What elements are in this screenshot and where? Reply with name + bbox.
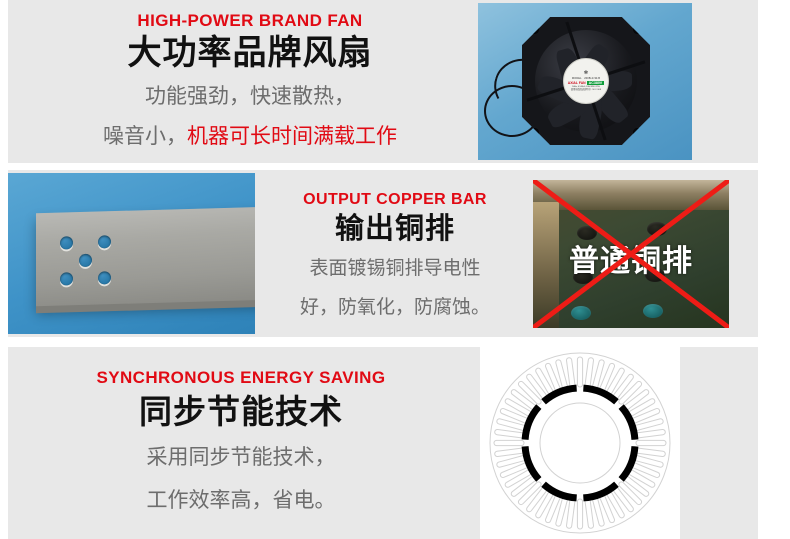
copper-title: 输出铜排 xyxy=(266,214,524,245)
fan-bore: ✻ MODEL 200B-2×W-B AXIAL FAN AC380V 50Hz… xyxy=(535,30,637,132)
stator-tooth xyxy=(494,440,524,445)
ordinary-bar-hole xyxy=(643,304,663,318)
stator-tooth xyxy=(494,429,524,438)
copper-bar-edge xyxy=(36,300,255,313)
axial-fan-photo: ✻ MODEL 200B-2×W-B AXIAL FAN AC380V 50Hz… xyxy=(478,3,692,160)
fan-label-voltage-badge: AC380V xyxy=(587,81,605,85)
copper-bar-hole xyxy=(60,272,73,285)
copper-bar-hole xyxy=(60,236,73,249)
fan-label-rating-row: AXIAL FAN AC380V xyxy=(568,81,604,85)
stator-tooth xyxy=(500,462,530,478)
ordinary-bar-hole xyxy=(571,306,591,320)
stator-ring-segment xyxy=(583,388,616,402)
copper-body-line-2: 好，防氧化，防腐蚀。 xyxy=(266,294,524,323)
fan-housing: ✻ MODEL 200B-2×W-B AXIAL FAN AC380V 50Hz… xyxy=(522,17,650,145)
fan-body-line-1: 功能强劲，快速散热， xyxy=(26,81,474,113)
stator-tooth xyxy=(496,418,526,431)
energy-title: 同步节能技术 xyxy=(16,394,466,430)
stator-tooth xyxy=(599,494,615,524)
stator-teeth-group xyxy=(494,357,666,529)
copper-bar-hole xyxy=(79,254,92,267)
fan-label-spec-line-2: 使用前请阅读说明书 · NO.1108 xyxy=(571,89,601,92)
fan-label-model: MODEL 200B-2×W-B xyxy=(572,77,600,80)
stator-outer-circle xyxy=(490,353,670,533)
stator-tooth xyxy=(577,499,582,529)
stator-tooth xyxy=(494,448,524,457)
stator-tooth xyxy=(566,357,575,387)
section-panel-energy: SYNCHRONOUS ENERGY SAVING 同步节能技术 采用同步节能技… xyxy=(8,347,758,539)
stator-tooth xyxy=(636,440,666,445)
copper-bar-hole xyxy=(98,235,111,248)
fan-mount-hole xyxy=(633,128,642,137)
stator-tooth xyxy=(585,357,594,387)
stator-lamination-diagram xyxy=(480,347,680,539)
fan-mount-hole xyxy=(633,25,642,34)
stator-ring-segment xyxy=(525,446,539,479)
stator-tooth xyxy=(592,496,605,526)
tinned-copper-bar-photo xyxy=(8,173,255,334)
copper-eyebrow: OUTPUT COPPER BAR xyxy=(266,192,524,208)
stator-tooth xyxy=(496,455,526,468)
stator-tooth xyxy=(631,462,661,478)
stator-ring-segment xyxy=(525,407,539,440)
copper-bar-hole xyxy=(98,271,111,284)
stator-ring-segment xyxy=(544,484,577,498)
stator-svg xyxy=(480,347,680,539)
copper-bar xyxy=(36,207,255,307)
section-panel-fan: HIGH-POWER BRAND FAN 大功率品牌风扇 功能强劲，快速散热， … xyxy=(8,0,758,163)
energy-body-line-2: 工作效率高，省电。 xyxy=(16,485,466,517)
copper-body-line-1: 表面镀锡铜排导电性 xyxy=(266,255,524,284)
stator-ring-segment xyxy=(621,407,635,440)
fan-mount-hole xyxy=(530,25,539,34)
fan-eyebrow: HIGH-POWER BRAND FAN xyxy=(26,12,474,29)
stator-tooth xyxy=(500,408,530,424)
stator-tooth xyxy=(585,498,594,528)
stator-tooth xyxy=(633,455,663,468)
ordinary-bar-overlay-label: 普通铜排 xyxy=(533,236,729,280)
ordinary-copper-bar-photo: 普通铜排 xyxy=(533,180,729,328)
stator-tooth xyxy=(545,363,561,393)
stator-ring-group xyxy=(525,388,635,498)
stator-ring-segment xyxy=(544,388,577,402)
stator-tooth xyxy=(577,357,582,387)
fan-body-line-2-plain: 噪音小， xyxy=(103,125,187,148)
stator-tooth xyxy=(555,496,568,526)
stator-tooth xyxy=(566,498,575,528)
stator-tooth xyxy=(635,429,665,438)
stator-tooth xyxy=(555,359,568,389)
energy-text-block: SYNCHRONOUS ENERGY SAVING 同步节能技术 采用同步节能技… xyxy=(16,369,466,517)
stator-tooth xyxy=(631,408,661,424)
stator-tooth xyxy=(633,418,663,431)
stator-ring-segment xyxy=(583,484,616,498)
fan-body-line-2: 噪音小，机器可长时间满载工作 xyxy=(26,121,474,153)
stator-tooth xyxy=(592,359,605,389)
fan-label: ✻ MODEL 200B-2×W-B AXIAL FAN AC380V 50Hz… xyxy=(563,58,609,104)
stator-tooth xyxy=(635,448,665,457)
energy-body-line-1: 采用同步节能技术， xyxy=(16,442,466,474)
section-panel-copper: OUTPUT COPPER BAR 输出铜排 表面镀锡铜排导电性 好，防氧化，防… xyxy=(8,170,758,337)
stator-ring-segment xyxy=(621,446,635,479)
fan-label-axial-text: AXIAL FAN xyxy=(568,81,586,85)
fan-body-line-2-highlight: 机器可长时间满载工作 xyxy=(187,125,397,148)
stator-tooth xyxy=(599,363,615,393)
copper-text-block: OUTPUT COPPER BAR 输出铜排 表面镀锡铜排导电性 好，防氧化，防… xyxy=(266,192,524,322)
fan-text-block: HIGH-POWER BRAND FAN 大功率品牌风扇 功能强劲，快速散热， … xyxy=(26,12,474,153)
energy-eyebrow: SYNCHRONOUS ENERGY SAVING xyxy=(16,369,466,386)
stator-inner-circle xyxy=(540,403,620,483)
fan-title: 大功率品牌风扇 xyxy=(26,35,474,72)
stator-tooth xyxy=(545,494,561,524)
